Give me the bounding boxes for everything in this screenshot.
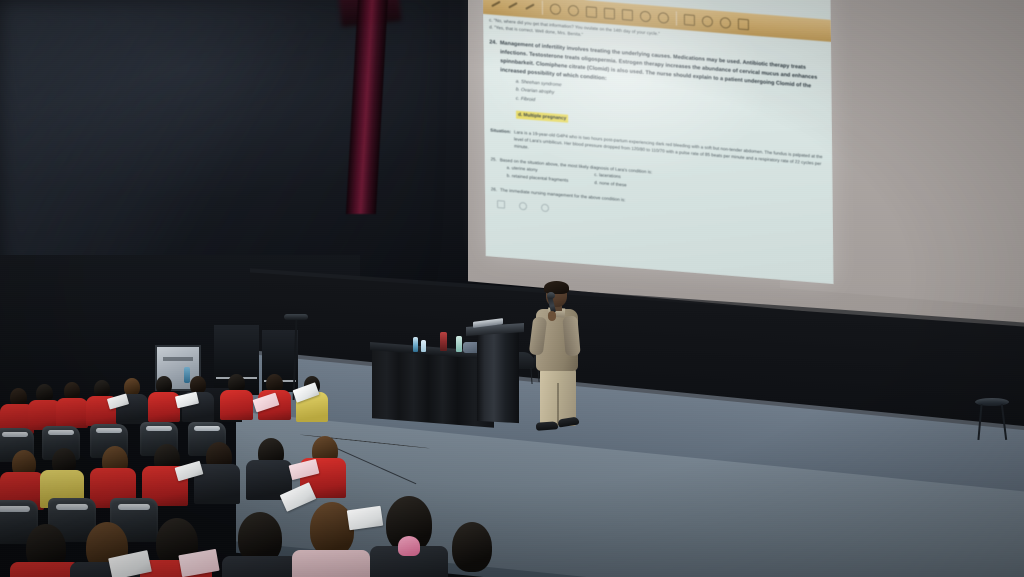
stool-leg (1001, 404, 1007, 440)
option-d-highlighted[interactable]: d. Multiple pregnancy (516, 110, 568, 122)
microphone-head (547, 292, 555, 299)
seat-highlight (96, 428, 122, 433)
presenter-shoe (558, 416, 580, 427)
highlighter-icon[interactable] (525, 3, 535, 9)
seat-highlight (56, 504, 88, 510)
seat-highlight (0, 506, 30, 512)
seat-highlight (48, 430, 74, 435)
question-26-number: 26. (491, 185, 497, 193)
stage-stool (975, 398, 1009, 440)
seat-highlight (194, 426, 220, 431)
document-body: c. "No, where did you get that informati… (489, 16, 827, 279)
stamp-icon[interactable] (658, 11, 669, 23)
link-icon[interactable] (720, 16, 731, 28)
q25-option-d[interactable]: d. none of these (594, 178, 626, 188)
eraser-icon[interactable] (550, 3, 561, 15)
table-icon[interactable] (604, 7, 615, 19)
microphone-boom (284, 314, 308, 320)
toolbar-separator (542, 1, 543, 15)
audience-person (220, 390, 253, 420)
comment-icon[interactable] (702, 15, 713, 27)
attachment-icon[interactable] (738, 18, 749, 30)
seat-highlight (2, 432, 28, 437)
search-icon[interactable] (640, 10, 651, 22)
bullet-icon (497, 200, 505, 209)
textbox-icon[interactable] (586, 6, 597, 18)
audience-person (56, 398, 88, 428)
presenter-hand (548, 311, 556, 321)
audience-head (452, 522, 492, 572)
question-26-text: The immediate nursing management for the… (500, 186, 625, 203)
lecture-hall-scene: c. "No, where did you get that informati… (0, 0, 1024, 577)
circle-icon (519, 202, 527, 211)
hair-accessory (398, 536, 420, 556)
situation-label: Situation: (490, 126, 511, 149)
audience-person (222, 556, 298, 577)
water-bottle (413, 337, 418, 352)
pen-icon[interactable] (508, 2, 518, 8)
presenter (528, 283, 588, 433)
seat-highlight (118, 504, 150, 510)
shape-icon[interactable] (568, 4, 579, 16)
stool-leg (977, 404, 982, 440)
podium (477, 329, 519, 423)
toolbar-separator (676, 11, 677, 25)
water-bottle (421, 340, 426, 352)
trouser-seam (557, 383, 559, 425)
circle-icon (541, 203, 549, 212)
question-24-number: 24. (489, 39, 497, 75)
note-icon[interactable] (684, 14, 695, 26)
audience-person (292, 550, 370, 577)
question-25-number: 25. (491, 156, 497, 164)
exam-paper (347, 506, 383, 531)
seat-highlight (146, 426, 172, 431)
projection-screen: c. "No, where did you get that informati… (482, 0, 833, 284)
image-icon[interactable] (622, 9, 633, 21)
presenter-shoe (536, 421, 559, 431)
pen-icon[interactable] (491, 1, 501, 7)
water-bottle (456, 336, 462, 352)
poster-graphic (163, 357, 193, 361)
red-thermos (440, 332, 447, 351)
